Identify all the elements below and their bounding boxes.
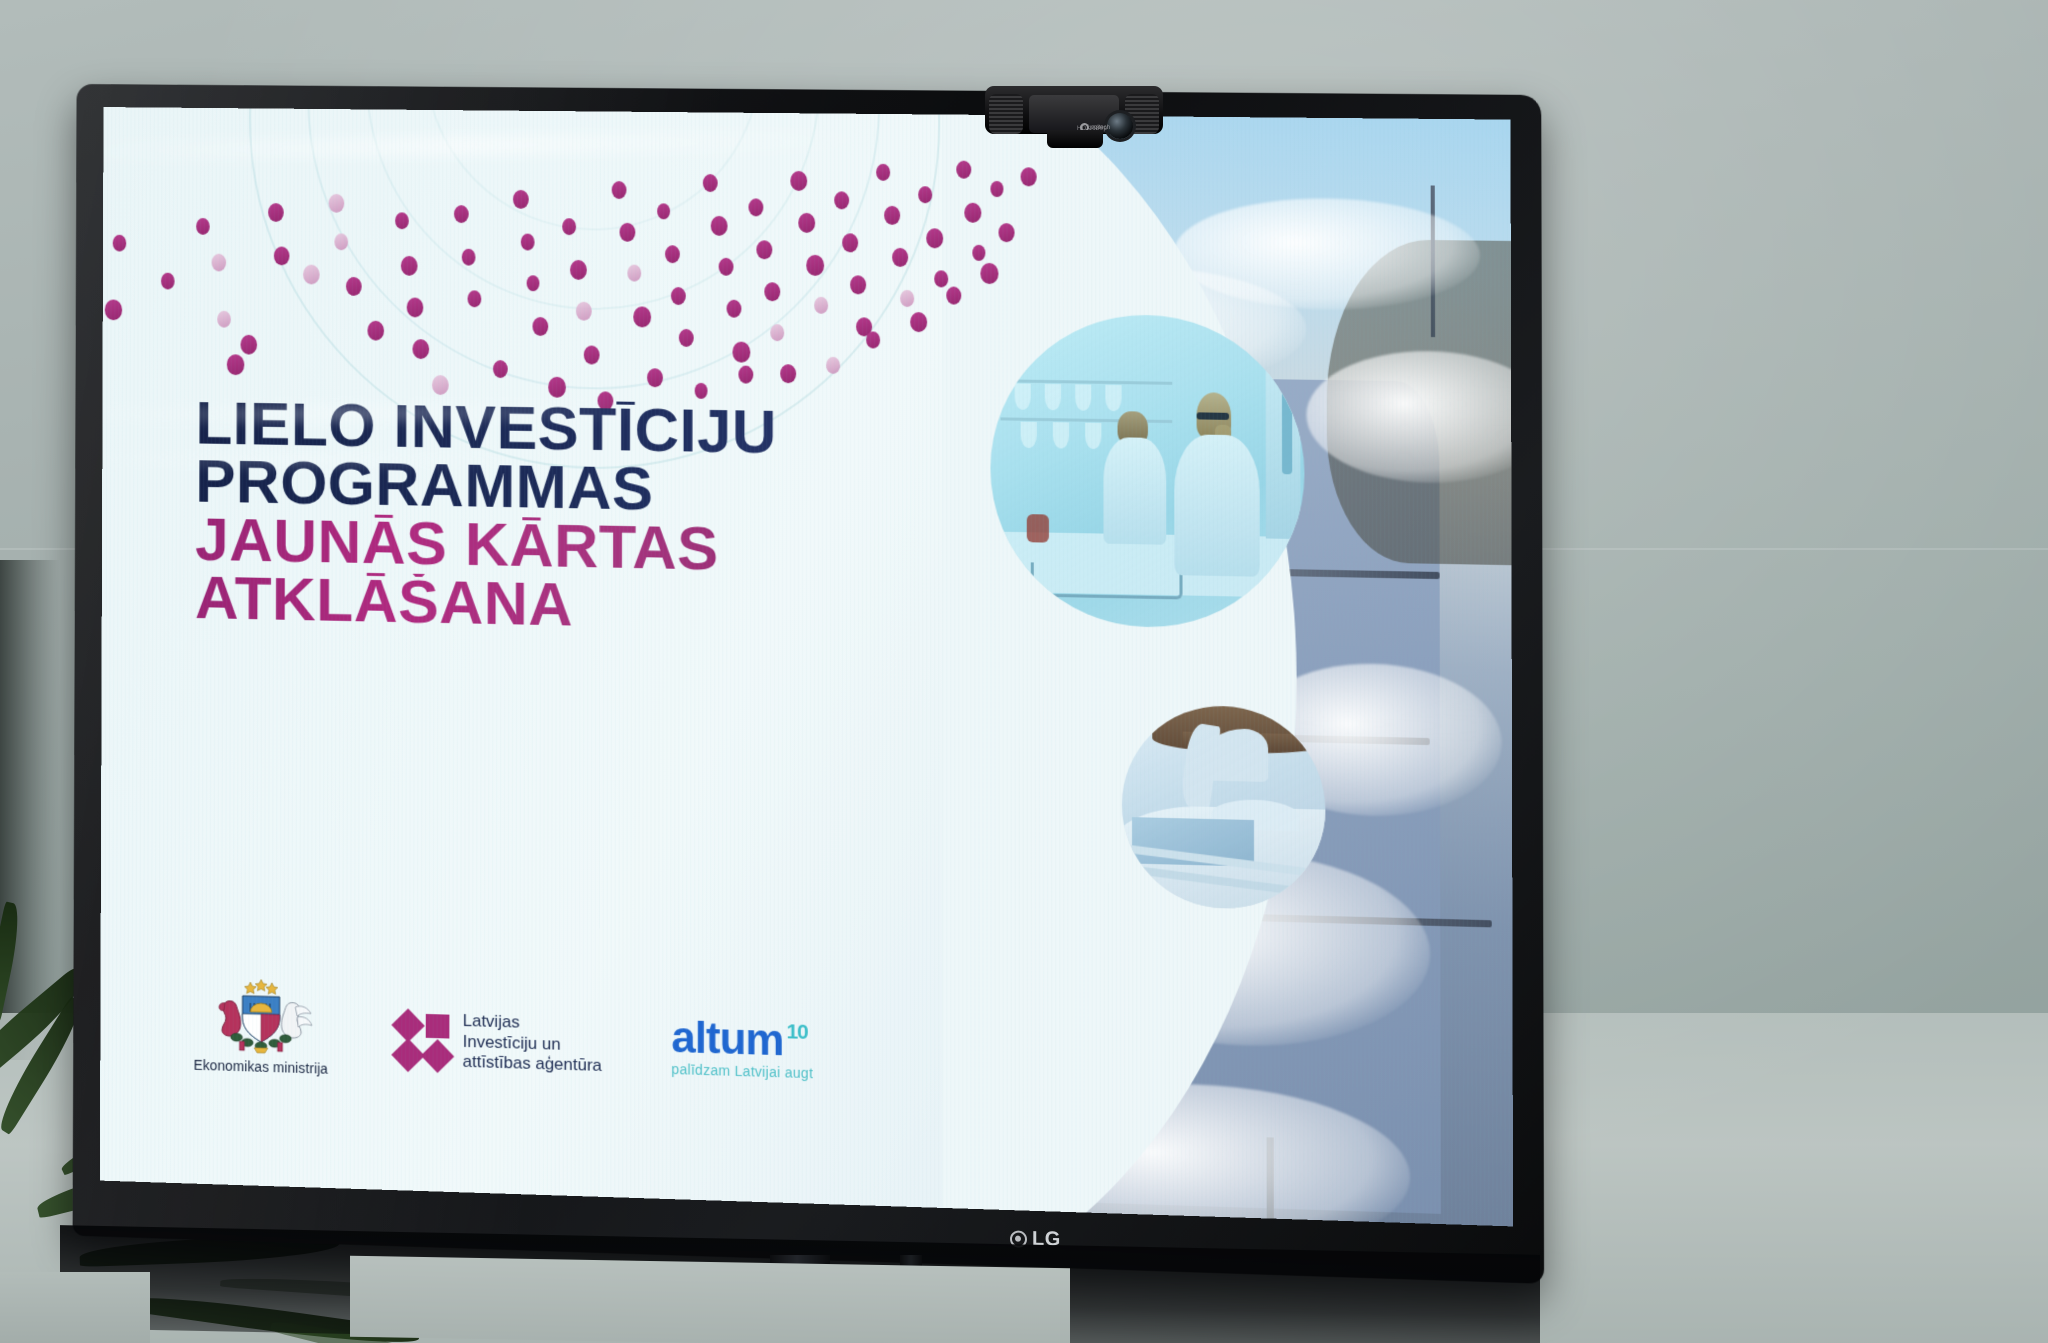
logo-row: Ekonomikas ministrija Latvijas Investīci… (194, 964, 814, 1091)
ministry-logo-caption: Ekonomikas ministrija (194, 1057, 328, 1077)
webcam-front-panel: HD 1080p Logitech (1029, 95, 1119, 133)
decor-dot (513, 190, 529, 209)
decor-dot (727, 300, 742, 318)
decor-dot (866, 331, 880, 348)
monitor-screen[interactable]: LIELO INVESTĪCIJU PROGRAMMAS JAUNĀS KĀRT… (100, 107, 1513, 1226)
decor-dot (671, 287, 686, 305)
decor-dot (462, 249, 476, 266)
decor-dot (884, 206, 900, 225)
decor-dot (876, 164, 890, 181)
decor-dot (711, 216, 728, 236)
decor-dot (113, 235, 127, 252)
decor-dot (756, 240, 772, 259)
decor-dot (934, 270, 948, 287)
title-line-4: ATKLĀŠANA (195, 569, 866, 641)
decor-dot (303, 265, 320, 285)
decor-dot (240, 335, 257, 355)
decor-dot (990, 181, 1003, 197)
decor-dot (980, 263, 998, 284)
latvia-coat-of-arms-icon (203, 975, 318, 1056)
decor-dot (334, 233, 348, 250)
decor-dot (738, 366, 753, 384)
background-panel-left (0, 1272, 150, 1343)
decor-dot (703, 174, 718, 192)
decor-dot (584, 345, 600, 364)
webcam-body: HD 1080p Logitech (985, 86, 1163, 134)
decor-dot (764, 282, 780, 301)
decor-dot (407, 297, 424, 317)
decor-dot (562, 218, 576, 235)
decor-dot (910, 312, 927, 332)
boat-manufacturing-photo (1122, 704, 1326, 911)
decor-dot (196, 218, 210, 235)
logitech-webcam: HD 1080p Logitech (985, 80, 1163, 142)
decor-dot (454, 205, 469, 223)
decor-dot (850, 275, 866, 294)
presentation-slide: LIELO INVESTĪCIJU PROGRAMMAS JAUNĀS KĀRT… (100, 107, 1513, 1226)
decor-dot (268, 203, 284, 222)
decor-dot (679, 329, 694, 347)
webcam-lens-icon (1107, 113, 1133, 139)
webcam-mount-clip (1047, 130, 1103, 148)
decor-dot (212, 254, 227, 272)
right-artwork-panel (942, 115, 1513, 1227)
decor-dot (161, 273, 175, 290)
decor-dot (633, 306, 651, 327)
decor-dot (105, 299, 122, 320)
liaa-diamond-mark-icon (397, 1011, 450, 1070)
decor-dot (798, 213, 815, 233)
decor-dot (806, 255, 824, 276)
decor-dot (770, 324, 784, 341)
decor-dot (401, 256, 418, 276)
decor-dot (412, 339, 429, 359)
decor-dot (719, 258, 734, 276)
decor-dot (972, 245, 985, 261)
decor-dot (918, 186, 932, 203)
decor-dot (395, 212, 409, 229)
decor-dot (619, 223, 635, 242)
decor-dot (570, 260, 587, 280)
liaa-logo: Latvijas Investīciju un attīstības aģent… (397, 1009, 602, 1077)
decor-dot (657, 203, 670, 219)
decor-dot (900, 290, 914, 307)
monitor: LIELO INVESTĪCIJU PROGRAMMAS JAUNĀS KĀRT… (62, 88, 1532, 1258)
decor-dot (732, 342, 750, 363)
ministry-logo: Ekonomikas ministrija (194, 975, 329, 1077)
decor-dot (956, 161, 971, 179)
decor-dot (964, 203, 981, 223)
liaa-logo-text: Latvijas Investīciju un attīstības aģent… (463, 1011, 602, 1077)
altum-word-text: altum (671, 1018, 783, 1061)
decor-dot (576, 302, 592, 321)
decor-dot (532, 317, 548, 336)
altum-anniversary-badge: 10 (786, 1024, 807, 1044)
decor-dot (527, 275, 540, 291)
decor-dot (647, 368, 663, 387)
webcam-grip-left (989, 94, 1023, 134)
decor-dot (814, 297, 828, 314)
decor-dot (346, 277, 362, 296)
decor-dot (493, 360, 508, 378)
decor-dot (468, 290, 482, 307)
decor-dot (790, 171, 807, 191)
decor-dot (946, 286, 961, 304)
decor-dot (998, 223, 1014, 242)
decor-dot (521, 234, 535, 251)
altum-logo: altum 10 palīdzam Latvijai augt (671, 1018, 813, 1081)
background-panel (350, 1256, 1070, 1343)
decor-dot (926, 228, 943, 248)
decor-dot (748, 198, 763, 216)
decor-dot (274, 246, 290, 265)
decor-dot (627, 265, 641, 282)
decor-dot (217, 311, 231, 328)
lab-researchers-photo (990, 313, 1304, 630)
decor-dot (1021, 167, 1037, 186)
decor-dot (227, 354, 245, 375)
decor-dot (780, 364, 796, 383)
decor-dot (665, 245, 680, 263)
decor-dot (892, 248, 908, 267)
altum-wordmark-icon: altum 10 (671, 1018, 807, 1062)
decor-dot (612, 181, 627, 199)
decor-dot (329, 194, 345, 213)
liaa-line-3: attīstības aģentūra (463, 1052, 602, 1077)
decor-dot (842, 233, 858, 252)
decor-dot (367, 321, 384, 341)
decor-dot (834, 191, 849, 209)
slide-title: LIELO INVESTĪCIJU PROGRAMMAS JAUNĀS KĀRT… (195, 395, 866, 641)
decor-dot (826, 357, 840, 374)
